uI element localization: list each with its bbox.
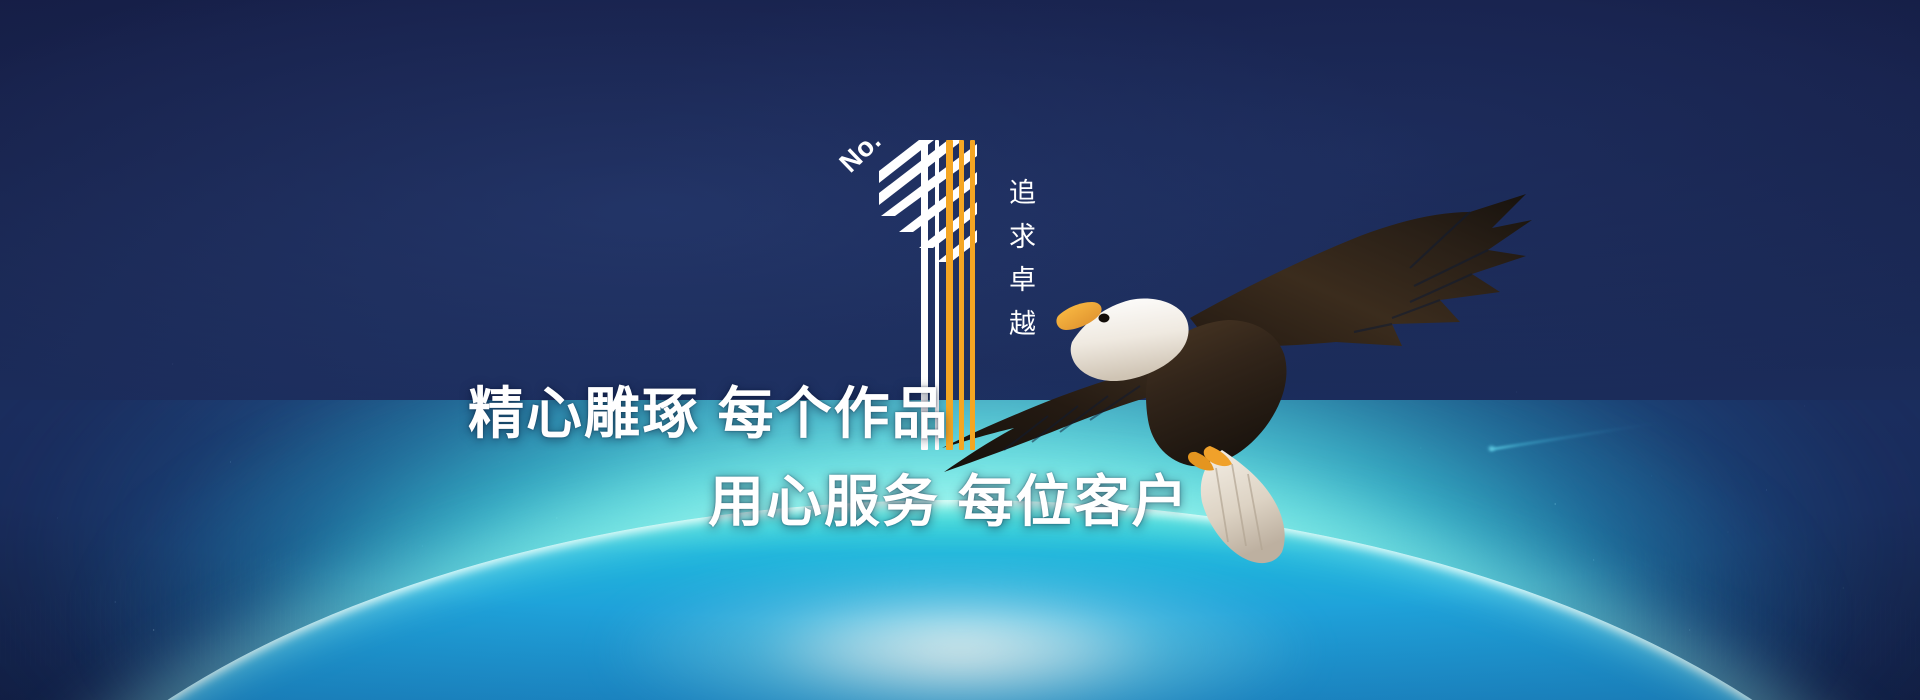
vertical-slogan-char-2: 求 (1003, 216, 1043, 260)
headline-line-2: 用心服务 每位客户 (708, 474, 1190, 530)
logo-stripe-orange-3 (970, 140, 975, 450)
vertical-slogan-char-4: 越 (1003, 303, 1043, 347)
vertical-slogan-char-1: 追 (1003, 172, 1043, 216)
vertical-slogan: 追 求 卓 越 (1003, 172, 1043, 347)
logo-stripe-orange-2 (959, 140, 964, 450)
headline-line-1: 精心雕琢 每个作品 (468, 386, 950, 442)
vertical-slogan-char-3: 卓 (1003, 259, 1043, 303)
hero-banner: No. 追 求 卓 越 精心雕琢 每个作品 用心服务 每 (0, 0, 1920, 700)
